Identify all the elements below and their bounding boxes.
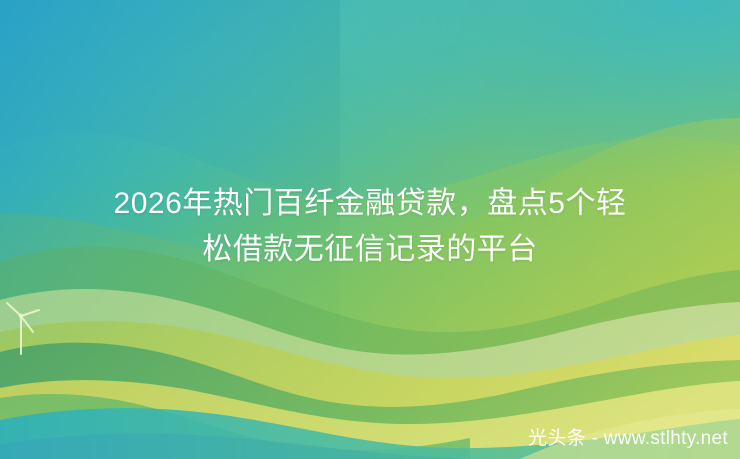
wind-turbine-icon: [4, 296, 50, 356]
watermark-text: 光头条 - www.stlhty.net: [528, 427, 728, 451]
banner-image: 2026年热门百纤金融贷款，盘点5个轻 松借款无征信记录的平台 光头条 - ww…: [0, 0, 740, 459]
page-title: 2026年热门百纤金融贷款，盘点5个轻 松借款无征信记录的平台: [0, 181, 740, 273]
